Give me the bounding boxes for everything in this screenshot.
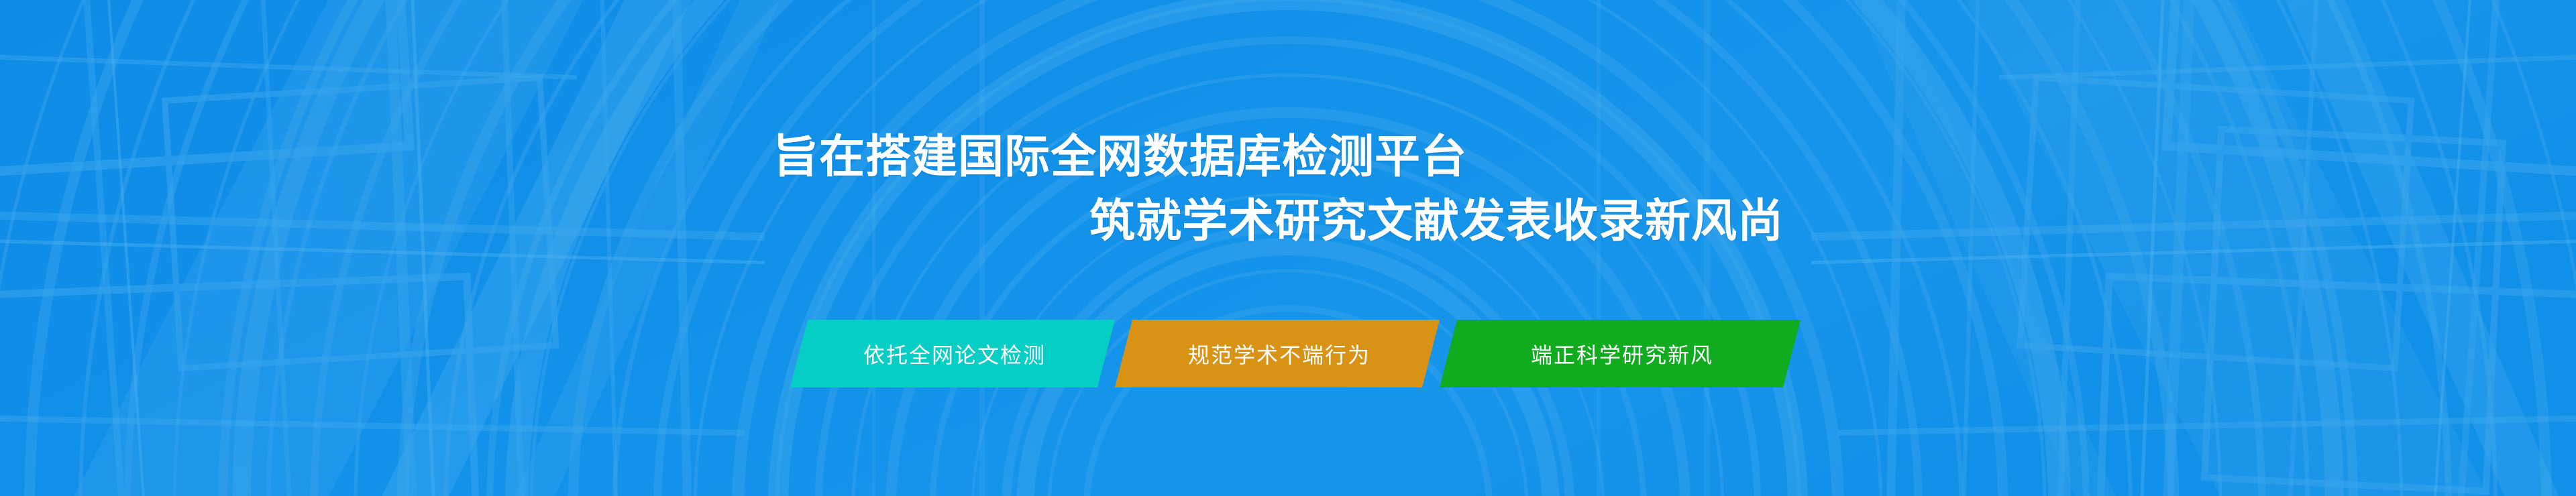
feature-tag-misconduct[interactable]: 规范学术不端行为 <box>1115 320 1440 387</box>
feature-tag-misconduct-label: 规范学术不端行为 <box>1188 338 1371 369</box>
feature-tag-integrity-label: 端正科学研究新风 <box>1531 338 1713 369</box>
feature-tag-detection-label: 依托全网论文检测 <box>863 338 1046 369</box>
background-pattern <box>0 0 2576 496</box>
promo-banner: 旨在搭建国际全网数据库检测平台 筑就学术研究文献发表收录新风尚 依托全网论文检测… <box>0 0 2576 496</box>
feature-tag-integrity[interactable]: 端正科学研究新风 <box>1440 320 1801 387</box>
feature-tag-detection[interactable]: 依托全网论文检测 <box>790 320 1115 387</box>
feature-tag-row: 依托全网论文检测 规范学术不端行为 端正科学研究新风 <box>0 320 2576 387</box>
